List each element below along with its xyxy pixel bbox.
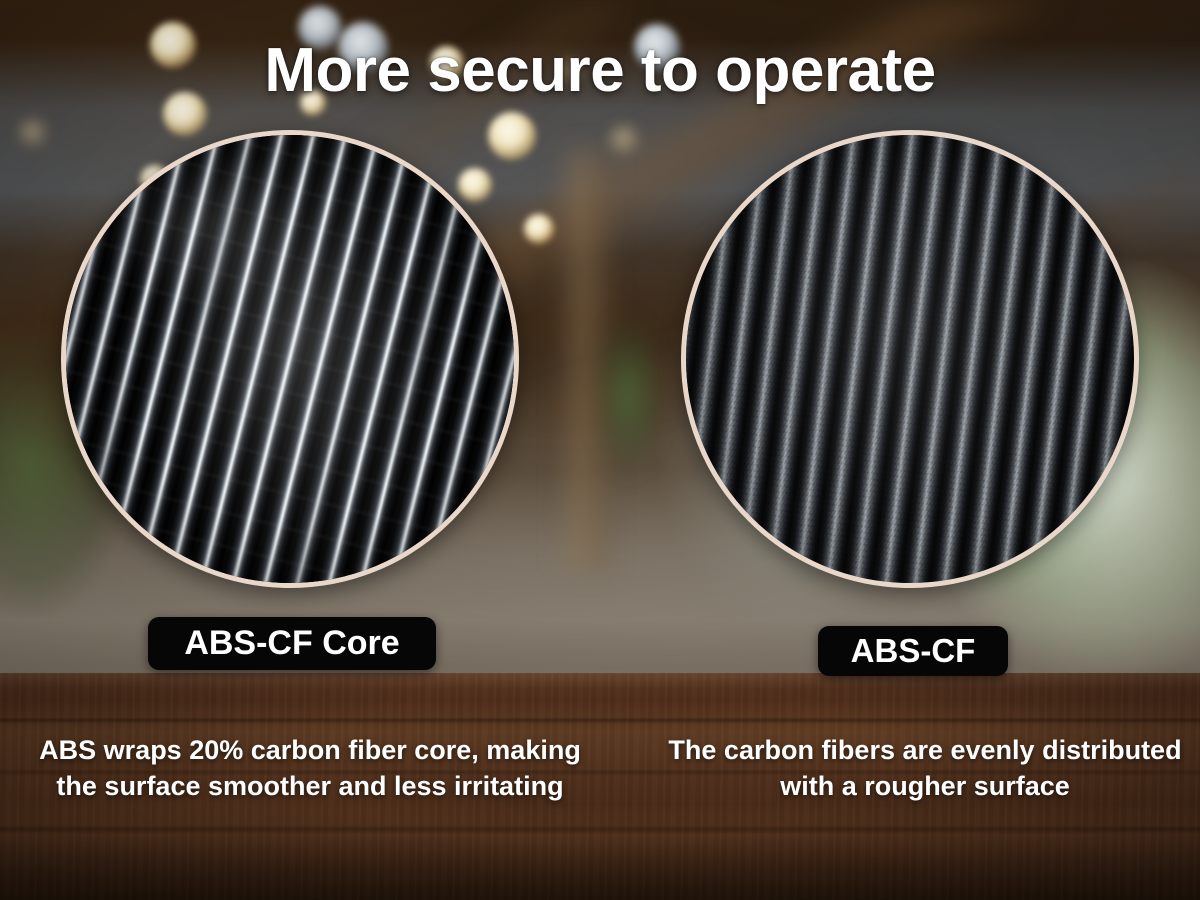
caption-abs-cf: The carbon fibers are evenly distributed… bbox=[660, 733, 1190, 805]
product-image-abs-cf bbox=[681, 130, 1139, 588]
promo-image-canvas: More secure to operate ABS-CF Core ABS w… bbox=[0, 0, 1200, 900]
glossy-filament-texture bbox=[61, 130, 519, 588]
product-image-abs-cf-core bbox=[61, 130, 519, 588]
label-abs-cf: ABS-CF bbox=[818, 626, 1008, 676]
page-title: More secure to operate bbox=[0, 40, 1200, 102]
matte-filament-texture bbox=[681, 130, 1139, 588]
caption-abs-cf-core: ABS wraps 20% carbon fiber core, making … bbox=[20, 733, 600, 805]
label-abs-cf-core: ABS-CF Core bbox=[148, 617, 436, 670]
